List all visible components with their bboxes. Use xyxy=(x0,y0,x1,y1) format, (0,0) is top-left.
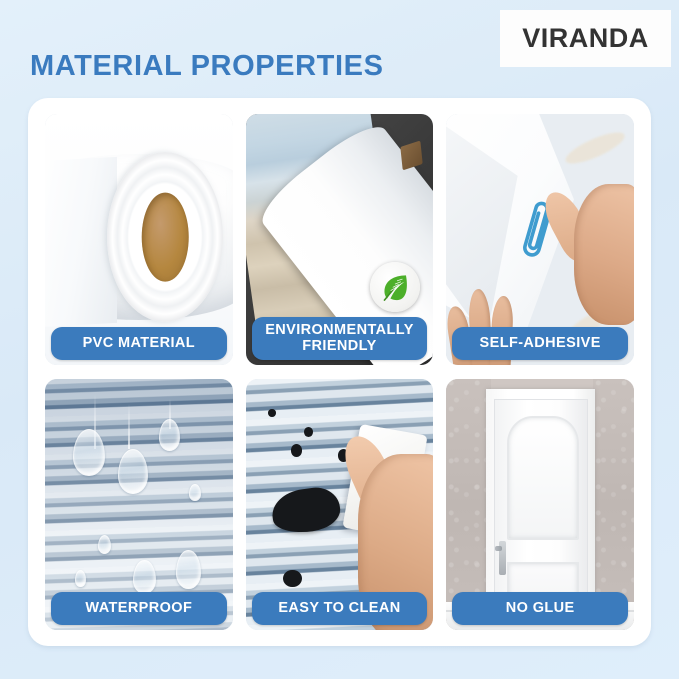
feature-card-easy-to-clean[interactable]: EASY TO CLEAN xyxy=(246,379,434,630)
feature-card-self-adhesive[interactable]: SELF-ADHESIVE xyxy=(446,114,634,365)
water-droplet-3 xyxy=(159,419,180,451)
features-grid: PVC MATERIAL xyxy=(45,114,634,630)
feature-label-no-glue: NO GLUE xyxy=(452,592,628,625)
feature-label-line-2: FRIENDLY xyxy=(256,338,424,354)
stain-dot-2 xyxy=(304,427,313,437)
feature-label-environmentally-friendly: ENVIRONMENTALLY FRIENDLY xyxy=(252,317,428,360)
stain-dot-3 xyxy=(291,444,302,457)
feature-label-easy-to-clean: EASY TO CLEAN xyxy=(252,592,428,625)
stain-smear xyxy=(269,485,342,537)
eco-roll-corner xyxy=(401,141,423,170)
brand-badge: VIRANDA xyxy=(500,10,671,67)
page-title: MATERIAL PROPERTIES xyxy=(30,50,384,83)
feature-label-pvc-material: PVC MATERIAL xyxy=(51,327,227,360)
features-panel: PVC MATERIAL xyxy=(28,98,651,646)
water-droplet-8 xyxy=(189,484,200,501)
pvc-roll-end xyxy=(107,152,223,323)
eco-badge xyxy=(370,262,421,313)
feature-card-environmentally-friendly[interactable]: ENVIRONMENTALLY FRIENDLY xyxy=(246,114,434,365)
feature-label-waterproof: WATERPROOF xyxy=(51,592,227,625)
feature-label-self-adhesive: SELF-ADHESIVE xyxy=(452,327,628,360)
water-trail-2 xyxy=(128,404,130,449)
leaf-icon xyxy=(378,270,412,304)
pvc-sheet-edge xyxy=(45,157,116,327)
right-hand xyxy=(574,184,634,325)
feature-card-pvc-material[interactable]: PVC MATERIAL xyxy=(45,114,233,365)
pvc-cardboard-core xyxy=(142,193,189,282)
water-droplet-6 xyxy=(98,535,111,555)
door-panel-top xyxy=(507,416,579,540)
water-droplet-4 xyxy=(176,550,201,590)
feature-card-no-glue[interactable]: NO GLUE xyxy=(446,379,634,630)
feature-card-waterproof[interactable]: WATERPROOF xyxy=(45,379,233,630)
material-properties-infographic: VIRANDA MATERIAL PROPERTIES PVC MATERIAL xyxy=(0,0,679,679)
stain-dot-1 xyxy=(268,409,276,417)
water-droplet-5 xyxy=(133,560,156,595)
feature-label-line-1: ENVIRONMENTALLY xyxy=(256,322,424,338)
door-handle xyxy=(499,541,506,576)
brand-name: VIRANDA xyxy=(522,23,649,54)
stain-dot-5 xyxy=(283,570,302,588)
